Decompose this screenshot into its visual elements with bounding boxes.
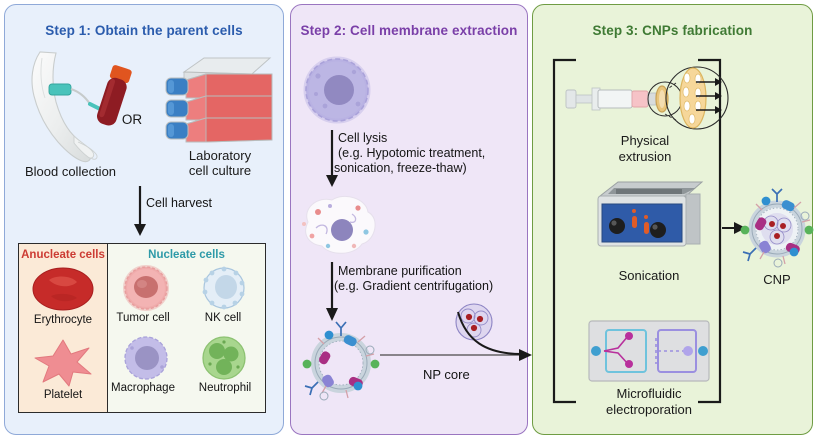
cell-harvest-label: Cell harvest [146,196,212,211]
membrane-purification-label-line2: (e.g. Gradient centrifugation) [334,279,493,294]
physical-extrusion-label-line2: extrusion [590,149,700,164]
laboratory-cell-culture-label-line2: cell culture [165,163,275,178]
blood-collection-icon [18,50,148,165]
membrane-purification-label-line1: Membrane purification [338,264,462,279]
or-label: OR [114,112,150,127]
microfluidic-label-line1: Microfluidic [588,386,710,401]
erythrocyte-icon [31,266,95,312]
nucleate-cells-column: Nucleate cells Tumor cell NK [108,244,265,412]
cell-lysis-label-line1: Cell lysis [338,131,387,146]
neutrophil-icon [196,334,252,382]
laboratory-cell-culture-icon [164,52,274,150]
macrophage-icon [118,334,174,382]
membrane-vesicle-icon [296,320,386,406]
intact-cell-icon [300,54,374,126]
laboratory-cell-culture-label-line1: Laboratory [165,148,275,163]
lysed-cell-debris-icon [296,192,382,258]
nk-cell-label: NK cell [148,312,298,324]
physical-extrusion-label-line1: Physical [590,133,700,148]
cell-harvest-arrow-icon [130,186,150,238]
anucleate-cells-header: Anucleate cells [19,249,107,261]
step-2-title: Step 2: Cell membrane extraction [291,23,527,38]
cnp-icon [736,188,817,270]
tumor-cell-icon [118,264,174,312]
microfluidic-chip-icon [588,320,710,382]
microfluidic-label-line2: electroporation [580,402,718,417]
neutrophil-label: Neutrophil [150,382,300,394]
cnp-label: CNP [736,272,817,287]
nk-cell-icon [196,264,252,312]
figure-canvas: Step 1: Obtain the parent cells Blood co… [0,0,817,439]
cell-lysis-label-line3: sonication, freeze-thaw) [334,161,467,176]
cell-lysis-label-line2: (e.g. Hypotomic treatment, [338,146,485,161]
step-1-title: Step 1: Obtain the parent cells [5,23,283,38]
nucleate-cells-header: Nucleate cells [108,249,265,261]
sonicator-bath-icon [592,178,706,262]
sonication-label: Sonication [592,268,706,283]
platelet-icon [31,336,95,388]
blood-collection-label: Blood collection [8,164,133,179]
np-core-label: NP core [423,368,470,383]
cell-type-table: Anucleate cells Erythrocyte Platelet Nuc… [18,243,266,413]
step-3-title: Step 3: CNPs fabrication [533,23,812,38]
